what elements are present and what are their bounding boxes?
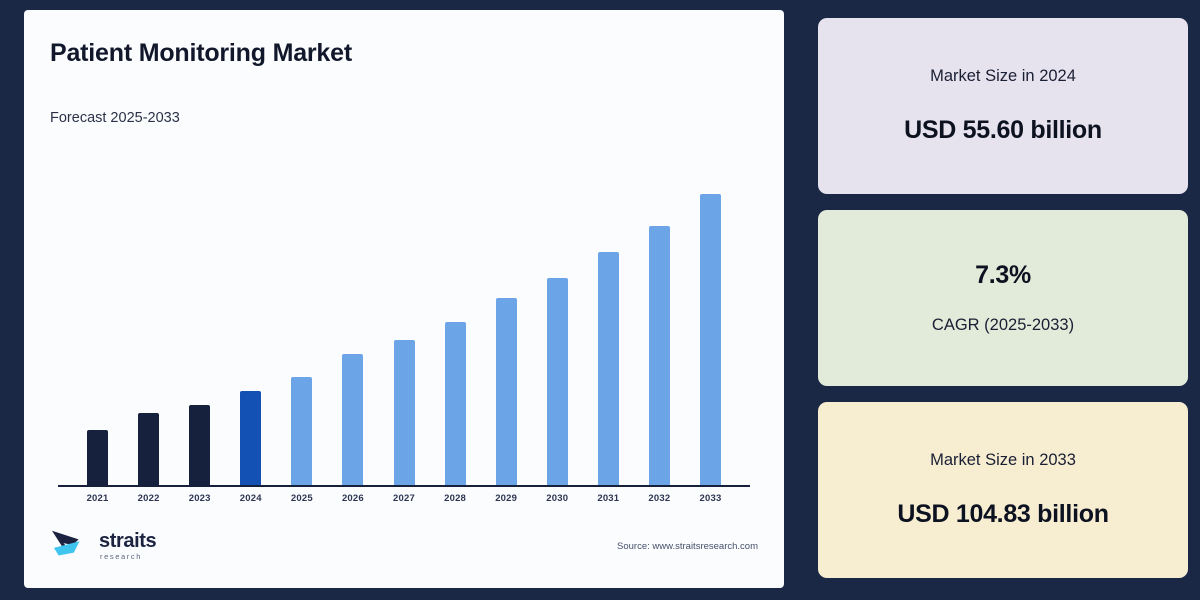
bar-slot xyxy=(225,391,276,485)
x-axis-label-2031: 2031 xyxy=(583,493,634,504)
chart-bar-2021[interactable] xyxy=(87,430,108,485)
chart-bar-2027[interactable] xyxy=(394,340,415,485)
x-axis-line xyxy=(58,485,750,488)
chart-bar-2024[interactable] xyxy=(240,391,261,485)
x-axis-label-2029: 2029 xyxy=(481,493,532,504)
chart-panel: Patient Monitoring Market Forecast 2025-… xyxy=(24,10,784,588)
logo-subtitle: research xyxy=(100,553,156,561)
stat-cards: Market Size in 2024USD 55.60 billion7.3%… xyxy=(818,10,1188,588)
stat-card-label: Market Size in 2033 xyxy=(930,451,1076,470)
bar-slot xyxy=(430,322,481,485)
stat-card-label: Market Size in 2024 xyxy=(930,67,1076,86)
chart-plot-area: 2021202220232024202520262027202820292030… xyxy=(58,146,750,485)
bar-slot xyxy=(276,377,327,485)
bar-chart: 2021202220232024202520262027202820292030… xyxy=(50,140,758,574)
stat-card-value: USD 104.83 billion xyxy=(897,500,1108,529)
x-axis-label-2028: 2028 xyxy=(430,493,481,504)
chart-bar-2026[interactable] xyxy=(342,354,363,485)
x-axis-label-2027: 2027 xyxy=(378,493,429,504)
bar-slot xyxy=(634,226,685,485)
bar-slot xyxy=(174,405,225,485)
x-axis-label-2025: 2025 xyxy=(276,493,327,504)
bar-slot xyxy=(327,354,378,485)
panel-footer: straits research Source: www.straitsrese… xyxy=(50,518,758,574)
page-title: Patient Monitoring Market xyxy=(50,38,758,68)
bar-slot xyxy=(481,298,532,485)
chart-bar-2032[interactable] xyxy=(649,226,670,485)
bar-slot xyxy=(685,194,736,485)
bar-slot xyxy=(583,252,634,485)
x-axis-label-2024: 2024 xyxy=(225,493,276,504)
logo-name: straits xyxy=(99,531,156,551)
chart-bar-2022[interactable] xyxy=(138,413,159,485)
source-attribution: Source: www.straitsresearch.com xyxy=(617,541,758,552)
stat-card-cagr: 7.3%CAGR (2025-2033) xyxy=(818,210,1188,386)
chart-bars xyxy=(58,167,750,485)
x-axis-tick-labels: 2021202220232024202520262027202820292030… xyxy=(58,493,750,504)
stat-card-value: 7.3% xyxy=(975,261,1031,290)
page-subtitle: Forecast 2025-2033 xyxy=(50,110,758,126)
chart-bar-2028[interactable] xyxy=(445,322,466,485)
bar-slot xyxy=(72,430,123,485)
straits-research-logo: straits research xyxy=(50,527,156,565)
bar-slot xyxy=(378,340,429,485)
x-axis-label-2032: 2032 xyxy=(634,493,685,504)
x-axis-label-2021: 2021 xyxy=(72,493,123,504)
chart-bar-2023[interactable] xyxy=(189,405,210,485)
x-axis-label-2022: 2022 xyxy=(123,493,174,504)
chart-bar-2029[interactable] xyxy=(496,298,517,485)
chart-bar-2033[interactable] xyxy=(700,194,721,485)
x-axis-label-2023: 2023 xyxy=(174,493,225,504)
stat-card-market-size-2024: Market Size in 2024USD 55.60 billion xyxy=(818,18,1188,194)
stat-card-label: CAGR (2025-2033) xyxy=(932,316,1074,335)
x-axis-label-2033: 2033 xyxy=(685,493,736,504)
straits-logo-text: straits research xyxy=(99,531,156,561)
chart-bar-2031[interactable] xyxy=(598,252,619,485)
bar-slot xyxy=(532,278,583,485)
infographic-root: Patient Monitoring Market Forecast 2025-… xyxy=(0,0,1200,600)
chart-bar-2030[interactable] xyxy=(547,278,568,485)
stat-card-market-size-2033: Market Size in 2033USD 104.83 billion xyxy=(818,402,1188,578)
bar-slot xyxy=(123,413,174,485)
x-axis-label-2026: 2026 xyxy=(327,493,378,504)
chart-bar-2025[interactable] xyxy=(291,377,312,485)
stat-card-value: USD 55.60 billion xyxy=(904,116,1102,145)
x-axis-label-2030: 2030 xyxy=(532,493,583,504)
straits-logo-mark xyxy=(50,527,92,565)
